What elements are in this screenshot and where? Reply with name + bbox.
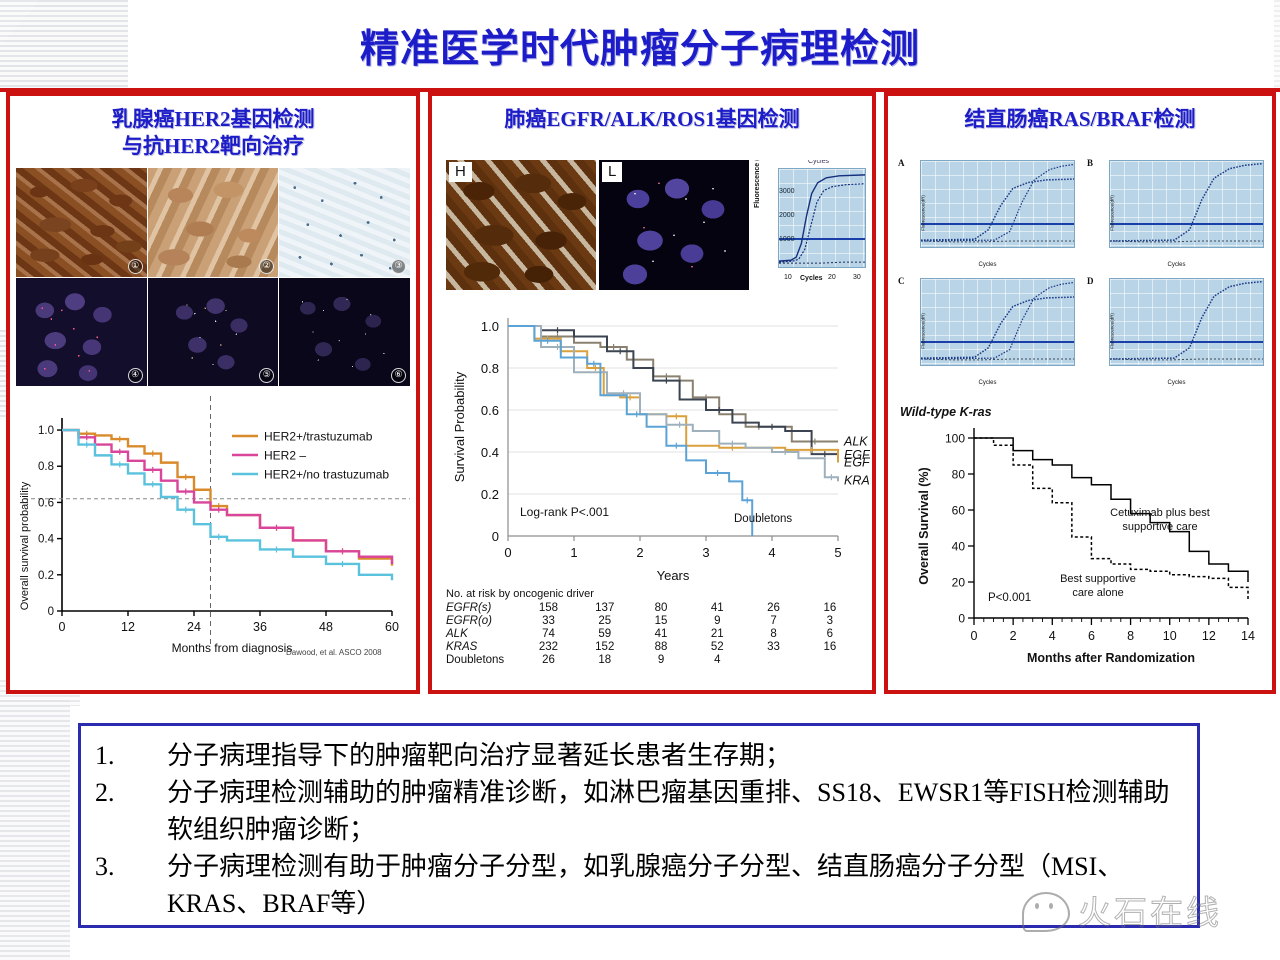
at-risk-cell: 41 (633, 627, 689, 640)
summary-item-3-text: 分子病理检测有助于肿瘤分子分型，如乳腺癌分子分型、结直肠癌分子分型（MSI、KR… (167, 849, 1183, 923)
svg-text:Months from diagnosis: Months from diagnosis (172, 641, 293, 655)
micrograph-ihc-3plus: ① (16, 168, 147, 277)
svg-text:8: 8 (1127, 629, 1134, 643)
svg-text:0: 0 (971, 629, 978, 643)
svg-text:KRAS: KRAS (844, 473, 870, 487)
colorectal-pcr-curves (921, 161, 1074, 247)
panel-lung-title: 肺癌EGFR/ALK/ROS1基因检测 (432, 96, 872, 133)
colorectal-pcr-xlabel: Cycles (898, 262, 1077, 268)
at-risk-cell: 88 (633, 640, 689, 653)
svg-text:12: 12 (1202, 629, 1216, 643)
svg-text:24: 24 (187, 620, 201, 634)
summary-item-2-text: 分子病理检测辅助的肿瘤精准诊断，如淋巴瘤基因重排、SS18、EWSR1等FISH… (167, 775, 1183, 849)
at-risk-row-label: EGFR(o) (446, 614, 520, 627)
at-risk-cell: 33 (520, 614, 576, 627)
panel-colorectal-title-line1: 结直肠癌RAS/BRAF检测 (888, 106, 1272, 133)
svg-text:supportive care: supportive care (1122, 521, 1197, 533)
at-risk-cell (802, 653, 858, 666)
svg-text:Wild-type K-ras: Wild-type K-ras (900, 405, 992, 419)
svg-text:Overall Survival (%): Overall Survival (%) (917, 467, 931, 584)
at-risk-cell: 26 (745, 601, 801, 614)
colorectal-pcr-xlabel: Cycles (1087, 380, 1266, 386)
svg-text:0.6: 0.6 (481, 403, 499, 418)
lung-pcr-ytick-1000: 1000 (779, 236, 795, 243)
micrograph-ihc-2plus: ② (148, 168, 279, 277)
svg-text:36: 36 (253, 620, 267, 634)
panel-breast-title: 乳腺癌HER2基因检测 与抗HER2靶向治疗 (10, 96, 416, 160)
svg-text:1.0: 1.0 (38, 425, 54, 437)
svg-text:100: 100 (945, 432, 965, 446)
at-risk-cell: 26 (520, 653, 576, 666)
summary-box: 1. 分子病理指导下的肿瘤靶向治疗显著延长患者生存期； 2. 分子病理检测辅助的… (78, 723, 1200, 928)
svg-text:5: 5 (834, 545, 841, 560)
svg-text:1: 1 (570, 545, 577, 560)
at-risk-cell: 16 (802, 640, 858, 653)
svg-text:Cetuximab plus best: Cetuximab plus best (1110, 507, 1210, 519)
summary-item-1-number: 1. (95, 738, 167, 775)
lung-pcr-top-label: Cycles (808, 160, 829, 165)
at-risk-table: EGFR(s)15813780412616EGFR(o)332515973ALK… (446, 601, 858, 666)
micrograph-ihc-negative: ③ (279, 168, 410, 277)
svg-text:Years: Years (657, 568, 690, 583)
colorectal-pcr-ylabel: Fluorescence(dR) (1109, 195, 1114, 231)
svg-text:Doubletons: Doubletons (734, 513, 792, 525)
lung-pcr-ylabel: Fluorescence (dR) (754, 160, 761, 208)
lung-pcr-chart: Fluorescence (dR) Cycles 10 20 30 1000 2… (752, 160, 866, 290)
colorectal-pcr-grid: AFluorescence(dR)CyclesBFluorescence(dR)… (898, 158, 1266, 386)
colorectal-pcr-cell-a: AFluorescence(dR)Cycles (898, 158, 1077, 268)
svg-text:1.0: 1.0 (481, 319, 499, 334)
colorectal-pcr-ylabel: Fluorescence(dR) (920, 195, 925, 231)
lung-pcr-xtick-30: 30 (853, 274, 861, 281)
at-risk-cell: 8 (745, 627, 801, 640)
svg-text:EGFR(o: EGFR(o (844, 456, 870, 470)
colorectal-pcr-curves (1110, 279, 1263, 365)
at-risk-cell: 25 (577, 614, 633, 627)
svg-text:60: 60 (385, 620, 399, 634)
colorectal-pcr-plot-area (920, 278, 1075, 366)
svg-text:10: 10 (1163, 629, 1177, 643)
svg-text:4: 4 (768, 545, 775, 560)
svg-text:48: 48 (319, 620, 333, 634)
svg-text:0: 0 (504, 545, 511, 560)
colorectal-pcr-curves (1110, 161, 1263, 247)
lung-ihc-image: H (446, 160, 596, 290)
svg-text:14: 14 (1241, 629, 1255, 643)
summary-item-3: 3. 分子病理检测有助于肿瘤分子分型，如乳腺癌分子分型、结直肠癌分子分型（MSI… (95, 849, 1183, 923)
slide-canvas: 精准医学时代肿瘤分子病理检测 乳腺癌HER2基因检测 与抗HER2靶向治疗 ① … (0, 0, 1280, 960)
at-risk-row: ALK7459412186 (446, 627, 858, 640)
at-risk-cell: 6 (802, 627, 858, 640)
at-risk-table-wrapper: No. at risk by oncogenic driver EGFR(s)1… (446, 588, 866, 666)
chart-her2-survival: 00.20.40.60.81.0 01224364860 Overall sur… (14, 396, 414, 686)
at-risk-cell: 15 (633, 614, 689, 627)
at-risk-cell: 74 (520, 627, 576, 640)
at-risk-row: EGFR(o)332515973 (446, 614, 858, 627)
chart-kras-cetuximab-survival: Wild-type K-ras 020406080100 02468101214… (892, 396, 1272, 688)
micrograph-number-1: ① (128, 259, 143, 274)
at-risk-row-label: KRAS (446, 640, 520, 653)
svg-text:0: 0 (492, 529, 499, 544)
svg-text:0: 0 (958, 612, 965, 626)
at-risk-cell: 59 (577, 627, 633, 640)
svg-text:20: 20 (952, 576, 966, 590)
at-risk-cell: 80 (633, 601, 689, 614)
chart-citation-dawood: Dawood, et al. ASCO 2008 (286, 648, 382, 657)
svg-text:80: 80 (952, 468, 966, 482)
svg-text:0.6: 0.6 (38, 497, 54, 509)
colorectal-pcr-plot-area (920, 160, 1075, 248)
svg-text:0.4: 0.4 (38, 534, 55, 546)
svg-text:6: 6 (1088, 629, 1095, 643)
micrograph-fish-normal: ⑥ (279, 278, 410, 387)
at-risk-row-label: Doubletons (446, 653, 520, 666)
svg-text:Best supportive: Best supportive (1060, 573, 1136, 585)
at-risk-cell (745, 653, 801, 666)
svg-text:0.4: 0.4 (481, 445, 499, 460)
colorectal-pcr-curves (921, 279, 1074, 365)
svg-text:HER2+/trastuzumab: HER2+/trastuzumab (264, 430, 373, 444)
lung-pcr-xlabel: Cycles (800, 275, 823, 282)
at-risk-row: EGFR(s)15813780412616 (446, 601, 858, 614)
micrograph-grid: ① ② ③ ④ ⑤ ⑥ (16, 168, 410, 386)
at-risk-caption: No. at risk by oncogenic driver (446, 588, 866, 600)
panel-breast-her2: 乳腺癌HER2基因检测 与抗HER2靶向治疗 ① ② ③ ④ ⑤ ⑥ (6, 92, 420, 694)
colorectal-pcr-letter-c: C (898, 276, 905, 286)
at-risk-cell: 137 (577, 601, 633, 614)
colorectal-pcr-plot-area (1109, 278, 1264, 366)
colorectal-pcr-ylabel: Fluorescence(dR) (920, 313, 925, 349)
svg-text:4: 4 (1049, 629, 1056, 643)
svg-text:0.8: 0.8 (481, 361, 499, 376)
lung-pcr-xtick-10: 10 (784, 274, 792, 281)
lung-pcr-xtick-20: 20 (828, 274, 836, 281)
svg-text:Log-rank P<.001: Log-rank P<.001 (520, 505, 609, 519)
at-risk-cell: 9 (633, 653, 689, 666)
summary-item-1: 1. 分子病理指导下的肿瘤靶向治疗显著延长患者生存期； (95, 738, 1183, 775)
micrograph-number-4: ④ (128, 368, 143, 383)
panel-lung-title-line1: 肺癌EGFR/ALK/ROS1基因检测 (432, 106, 872, 133)
at-risk-cell: 9 (689, 614, 745, 627)
colorectal-pcr-xlabel: Cycles (898, 380, 1077, 386)
colorectal-pcr-cell-b: BFluorescence(dR)Cycles (1087, 158, 1266, 268)
lung-pcr-ytick-3000: 3000 (779, 188, 795, 195)
summary-item-2: 2. 分子病理检测辅助的肿瘤精准诊断，如淋巴瘤基因重排、SS18、EWSR1等F… (95, 775, 1183, 849)
svg-text:Months after Randomization: Months after Randomization (1027, 651, 1195, 665)
at-risk-cell: 152 (577, 640, 633, 653)
micrograph-fish-amplified: ④ (16, 278, 147, 387)
panel-lung-egfr-alk-ros1: 肺癌EGFR/ALK/ROS1基因检测 H L Fluor (428, 92, 876, 694)
micrograph-fish-cluster: ⑤ (148, 278, 279, 387)
lung-pcr-ytick-2000: 2000 (779, 212, 795, 219)
at-risk-cell: 16 (802, 601, 858, 614)
colorectal-pcr-letter-d: D (1087, 276, 1094, 286)
at-risk-cell: 33 (745, 640, 801, 653)
colorectal-pcr-xlabel: Cycles (1087, 262, 1266, 268)
svg-text:2: 2 (636, 545, 643, 560)
at-risk-cell: 232 (520, 640, 576, 653)
panel-colorectal-title: 结直肠癌RAS/BRAF检测 (888, 96, 1272, 133)
colorectal-pcr-letter-a: A (898, 158, 905, 168)
colorectal-pcr-cell-c: CFluorescence(dR)Cycles (898, 276, 1077, 386)
at-risk-row: Doubletons261894 (446, 653, 858, 666)
micrograph-number-6: ⑥ (391, 368, 406, 383)
lung-image-tag-h: H (449, 162, 472, 182)
svg-text:0: 0 (59, 620, 66, 634)
svg-text:0: 0 (48, 606, 54, 618)
colorectal-pcr-ylabel: Fluorescence(dR) (1109, 313, 1114, 349)
micrograph-number-2: ② (259, 259, 274, 274)
svg-text:3: 3 (702, 545, 709, 560)
colorectal-pcr-letter-b: B (1087, 158, 1093, 168)
svg-text:HER2 –: HER2 – (264, 449, 306, 463)
svg-text:60: 60 (952, 504, 966, 518)
summary-item-2-number: 2. (95, 775, 167, 849)
at-risk-cell: 7 (745, 614, 801, 627)
lung-image-strip: H L Fluorescence (dR) Cycles 10 (446, 160, 866, 290)
at-risk-row-label: EGFR(s) (446, 601, 520, 614)
at-risk-cell: 41 (689, 601, 745, 614)
svg-text:care alone: care alone (1072, 587, 1123, 599)
svg-text:HER2+/no trastuzumab: HER2+/no trastuzumab (264, 468, 389, 482)
chart-oncogenic-driver-survival: 00.20.40.60.81.0 012345 ALKEGFR(sEGFR(oK… (446, 304, 870, 596)
at-risk-cell: 4 (689, 653, 745, 666)
at-risk-cell: 18 (577, 653, 633, 666)
svg-text:40: 40 (952, 540, 966, 554)
colorectal-pcr-cell-d: DFluorescence(dR)Cycles (1087, 276, 1266, 386)
panel-colorectal-ras-braf: 结直肠癌RAS/BRAF检测 AFluorescence(dR)CyclesBF… (884, 92, 1276, 694)
svg-text:Overall survival probability: Overall survival probability (19, 481, 31, 610)
at-risk-cell: 3 (802, 614, 858, 627)
lung-image-tag-l: L (602, 162, 622, 182)
svg-text:0.8: 0.8 (38, 461, 54, 473)
panel-breast-title-line1: 乳腺癌HER2基因检测 (10, 106, 416, 133)
svg-text:ALK: ALK (843, 435, 868, 449)
svg-text:Survival Probability: Survival Probability (452, 371, 467, 482)
at-risk-cell: 52 (689, 640, 745, 653)
at-risk-row-label: ALK (446, 627, 520, 640)
decorative-stripes-left-column (0, 700, 70, 960)
at-risk-row: KRAS23215288523316 (446, 640, 858, 653)
panel-breast-title-line2: 与抗HER2靶向治疗 (10, 133, 416, 160)
svg-text:2: 2 (1010, 629, 1017, 643)
summary-item-1-text: 分子病理指导下的肿瘤靶向治疗显著延长患者生存期； (167, 738, 1183, 775)
summary-item-3-number: 3. (95, 849, 167, 923)
at-risk-cell: 21 (689, 627, 745, 640)
at-risk-cell: 158 (520, 601, 576, 614)
slide-title: 精准医学时代肿瘤分子病理检测 (0, 18, 1280, 74)
svg-text:P<0.001: P<0.001 (988, 592, 1031, 604)
micrograph-number-3: ③ (391, 259, 406, 274)
svg-text:12: 12 (121, 620, 135, 634)
lung-fish-image: L (599, 160, 749, 290)
colorectal-pcr-plot-area (1109, 160, 1264, 248)
micrograph-number-5: ⑤ (259, 368, 274, 383)
svg-text:0.2: 0.2 (481, 487, 499, 502)
svg-text:0.2: 0.2 (38, 570, 54, 582)
